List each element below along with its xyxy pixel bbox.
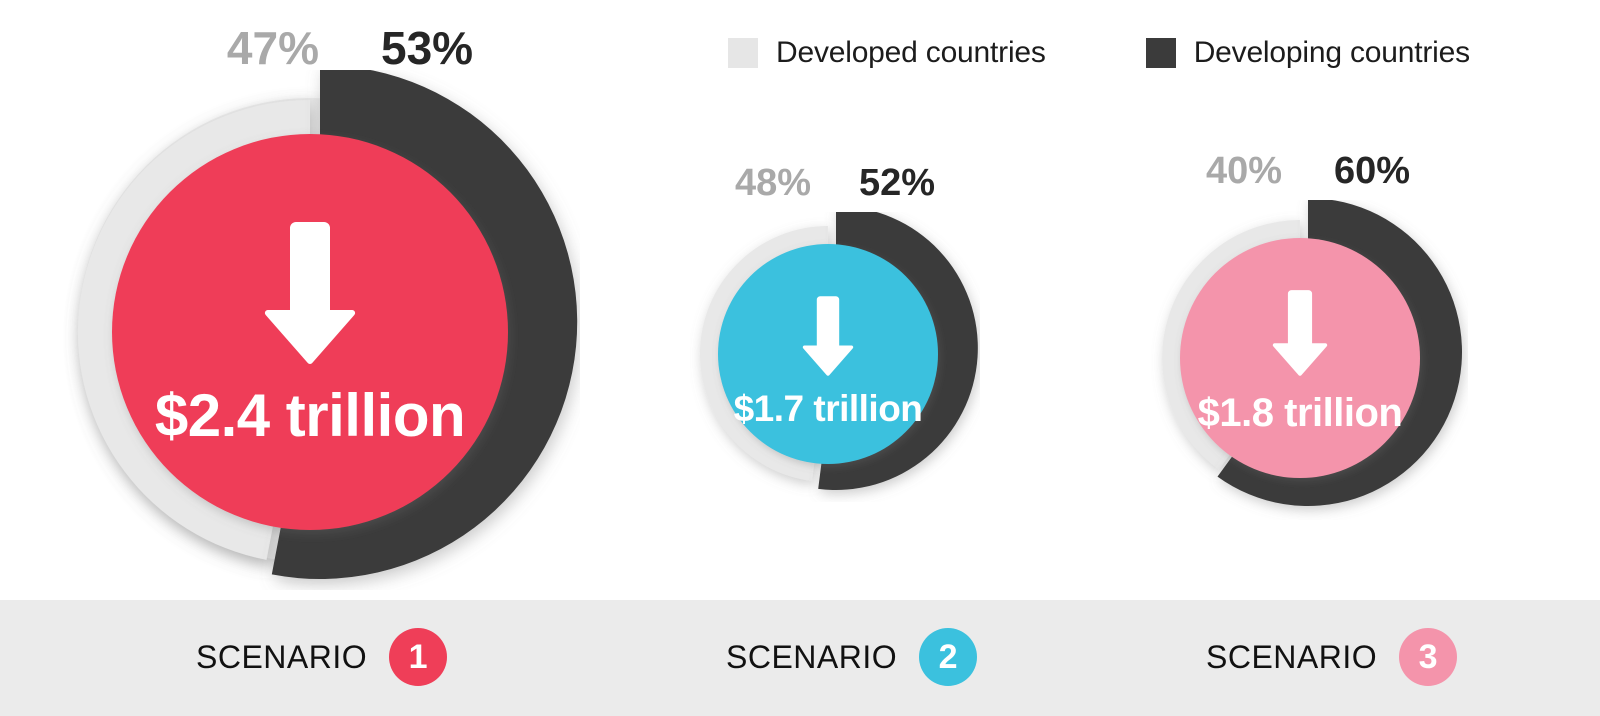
- percent-developed-scenario-1: 47%: [227, 25, 319, 71]
- scenario-badge-1: 1: [389, 628, 447, 686]
- donut-inner-disc: [718, 244, 938, 464]
- scenario-badge-2: 2: [919, 628, 977, 686]
- scenario-badge-3: 3: [1399, 628, 1457, 686]
- scenario-label-2: SCENARIO: [726, 639, 897, 676]
- donut-rings-scenario-3: [1148, 200, 1468, 520]
- legend-label-developed: Developed countries: [776, 36, 1046, 70]
- percent-developing-scenario-1: 53%: [381, 25, 473, 71]
- percent-developed-scenario-3: 40%: [1206, 152, 1282, 190]
- percent-developing-scenario-3: 60%: [1334, 152, 1410, 190]
- legend-item-developing: Developing countries: [1146, 36, 1470, 70]
- legend-item-developed: Developed countries: [728, 36, 1046, 70]
- infographic-canvas: Developed countries Developing countries…: [0, 0, 1600, 716]
- square-swatch-icon: [1146, 38, 1176, 68]
- donut-inner-disc: [1180, 238, 1420, 478]
- donut-chart-scenario-1: 47% 53%: [60, 70, 580, 590]
- donut-inner-disc: [112, 134, 508, 530]
- donut-rings-scenario-1: [60, 70, 580, 590]
- percent-labels-scenario-1: 47% 53%: [190, 25, 510, 71]
- percent-labels-scenario-3: 40% 60%: [1178, 152, 1438, 190]
- scenario-footer-band: SCENARIO 1 SCENARIO 2 SCENARIO 3: [0, 600, 1600, 716]
- square-swatch-icon: [728, 38, 758, 68]
- donut-chart-scenario-3: 40% 60%: [1148, 200, 1468, 520]
- scenario-item-1[interactable]: SCENARIO 1: [196, 628, 447, 686]
- scenario-label-3: SCENARIO: [1206, 639, 1377, 676]
- legend: Developed countries Developing countries: [728, 36, 1470, 70]
- donut-rings-scenario-2: [690, 212, 980, 502]
- legend-label-developing: Developing countries: [1194, 36, 1470, 70]
- percent-labels-scenario-2: 48% 52%: [710, 164, 960, 202]
- donut-chart-scenario-2: 48% 52%: [690, 212, 980, 502]
- scenario-item-2[interactable]: SCENARIO 2: [726, 628, 977, 686]
- scenario-item-3[interactable]: SCENARIO 3: [1206, 628, 1457, 686]
- scenario-label-1: SCENARIO: [196, 639, 367, 676]
- percent-developing-scenario-2: 52%: [859, 164, 935, 202]
- percent-developed-scenario-2: 48%: [735, 164, 811, 202]
